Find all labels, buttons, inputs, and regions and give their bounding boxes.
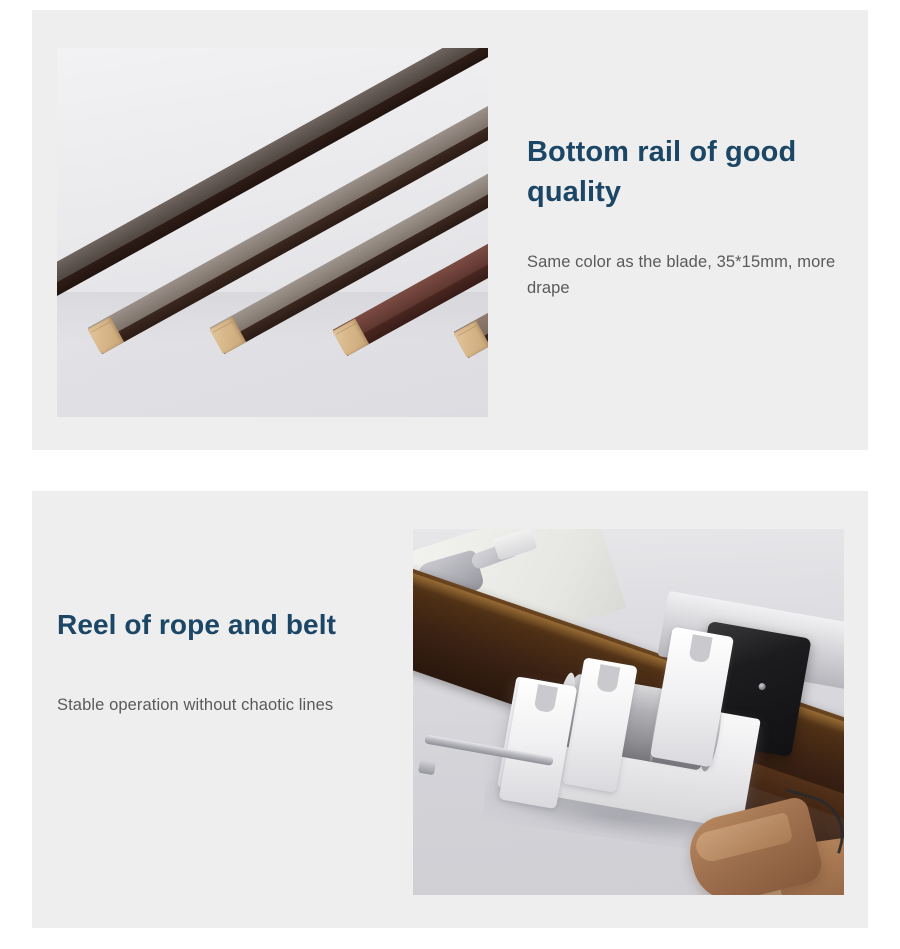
bottom-rail-heading: Bottom rail of good quality: [527, 132, 847, 212]
bottom-rail-samples-photo: [57, 48, 488, 417]
motor-screw-icon: [758, 683, 766, 691]
reel-description: Stable operation without chaotic lines: [57, 693, 402, 719]
bracket-notch: [688, 634, 712, 663]
rail-slat-dark: [57, 48, 488, 314]
reel-scene: [413, 529, 844, 895]
bottom-rail-text-block: Bottom rail of good quality Same color a…: [527, 132, 847, 301]
bottom-rail-description: Same color as the blade, 35*15mm, more d…: [527, 250, 847, 301]
metal-rod-tip: [418, 760, 436, 776]
product-feature-page: Bottom rail of good quality Same color a…: [0, 0, 900, 949]
feature-section-reel-rope-belt: Reel of rope and belt Stable operation w…: [32, 491, 868, 928]
rail-slat-edge: [57, 48, 488, 314]
reel-text-block: Reel of rope and belt Stable operation w…: [57, 606, 402, 718]
reel-mechanism-photo: [413, 529, 844, 895]
feature-section-bottom-rail: Bottom rail of good quality Same color a…: [32, 10, 868, 450]
bracket-notch: [596, 664, 620, 693]
rails-scene: [57, 48, 488, 417]
reel-heading: Reel of rope and belt: [57, 606, 402, 645]
bracket-notch: [534, 684, 558, 713]
